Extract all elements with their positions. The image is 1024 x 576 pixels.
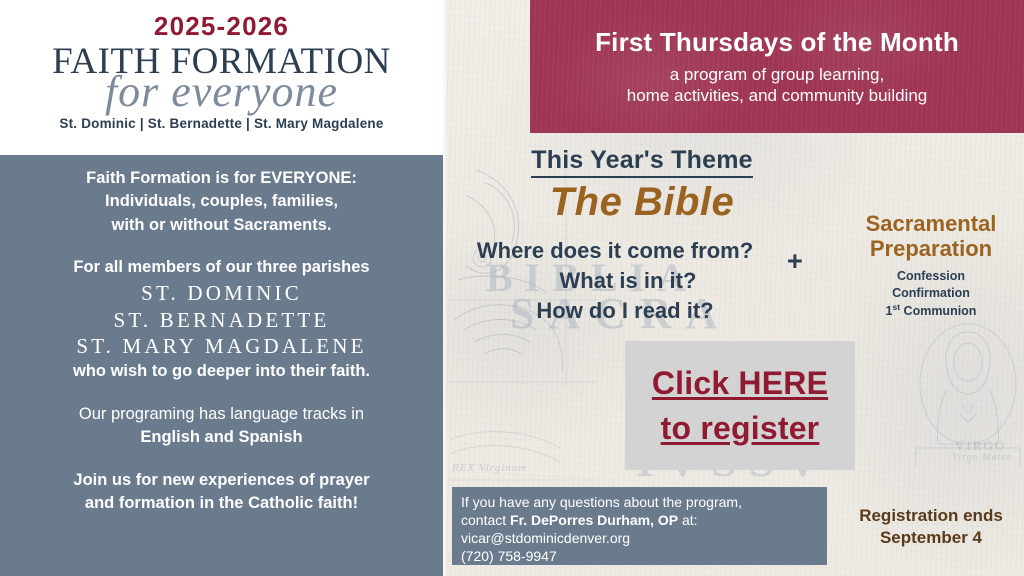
contact-prefix: contact [461,512,510,528]
first-communion-label: Communion [900,304,976,318]
members-line: For all members of our three parishes [0,256,443,279]
languages-line: English and Spanish [0,426,443,449]
sacramental-item-confession: Confession [838,268,1024,285]
header-parishes-line: St. Dominic | St. Bernadette | St. Mary … [0,116,443,131]
contact-name: Fr. DePorres Durham, OP [510,512,678,528]
join-line-1: Join us for new experiences of prayer [0,469,443,492]
join-line-2: and formation in the Catholic faith! [0,492,443,515]
year-range: 2025-2026 [0,11,443,42]
left-info-panel: Faith Formation is for EVERYONE: Individ… [0,155,443,576]
spacer-2 [0,384,443,403]
banner-subtitle-line-2: home activities, and community building [627,86,927,107]
spacer-3 [0,450,443,469]
spacer-1 [0,237,443,256]
parish-name-1: ST. DOMINIC [0,280,443,307]
sacramental-item-confirmation: Confirmation [838,285,1024,302]
first-communion-number: 1 [886,304,893,318]
header-block: 2025-2026 FAITH FORMATION for everyone S… [0,0,443,155]
contact-line-2: contact Fr. DePorres Durham, OP at: [461,512,827,530]
contact-email[interactable]: vicar@stdominicdenver.org [461,530,827,548]
banner-title: First Thursdays of the Month [595,27,959,58]
intro-line-2: Individuals, couples, families, [0,190,443,213]
plus-icon: + [787,248,803,275]
banner-subtitle-line-1: a program of group learning, [627,65,927,86]
parish-name-2: ST. BERNADETTE [0,307,443,334]
contact-box: If you have any questions about the prog… [452,487,827,565]
first-communion-ordinal: st [893,302,901,312]
faith-formation-flyer: BIBLIA SACRA IVSSV recognita atque edita… [0,0,1024,576]
registration-deadline: Registration ends September 4 [838,505,1024,549]
theme-questions: Where does it come from? What is in it? … [440,236,790,326]
registration-deadline-label: Registration ends [838,505,1024,527]
contact-phone[interactable]: (720) 758-9947 [461,548,827,566]
theme-question-3: How do I read it? [460,296,790,326]
theme-section: This Year's Theme The Bible [452,146,832,225]
language-line: Our programing has language tracks in [0,403,443,426]
intro-line-3: with or without Sacraments. [0,214,443,237]
sacramental-item-first-communion: 1st Communion [838,302,1024,320]
parish-name-3: ST. MARY MAGDALENE [0,333,443,360]
theme-question-2: What is in it? [466,266,790,296]
register-cta-box[interactable]: Click HERE to register [625,341,855,470]
sacramental-preparation-section: Sacramental Preparation Confession Confi… [838,212,1024,319]
theme-label: This Year's Theme [531,146,753,178]
contact-line-1: If you have any questions about the prog… [461,494,827,512]
first-thursdays-banner: First Thursdays of the Month a program o… [530,0,1024,133]
theme-title: The Bible [452,180,832,225]
register-link-line-2[interactable]: to register [661,406,820,450]
intro-line-1: Faith Formation is for EVERYONE: [0,167,443,190]
contact-suffix: at: [678,512,697,528]
sacramental-heading-line-2: Preparation [838,237,1024,262]
register-link-line-1[interactable]: Click HERE [652,361,828,405]
sacramental-items: Confession Confirmation 1st Communion [838,268,1024,319]
banner-subtitle: a program of group learning, home activi… [627,65,927,106]
registration-deadline-date: September 4 [838,527,1024,549]
sacramental-heading-line-1: Sacramental [838,212,1024,237]
theme-question-1: Where does it come from? [440,236,790,266]
deeper-line: who wish to go deeper into their faith. [0,360,443,383]
